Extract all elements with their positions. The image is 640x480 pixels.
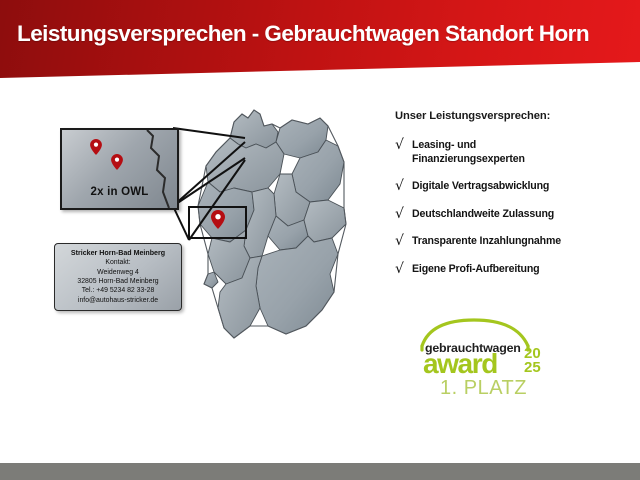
owl-callout-label: 2x in OWL — [62, 186, 177, 198]
header-banner: Leistungsversprechen - Gebrauchtwagen St… — [0, 0, 640, 78]
check-icon: √ — [395, 235, 412, 249]
slide-canvas: Leistungsversprechen - Gebrauchtwagen St… — [0, 0, 640, 480]
promise-label: Leasing- und Finanzierungsexperten — [412, 139, 525, 166]
check-icon: √ — [395, 263, 412, 277]
owl-pin-2-icon — [111, 154, 123, 170]
award-badge-svg: gebrauchtwagen award 20 25 1. PLATZ — [398, 316, 553, 398]
germany-map-svg — [168, 96, 383, 401]
owl-callout-box: 2x in OWL — [60, 128, 179, 210]
promise-item: √ Leasing- und Finanzierungsexperten — [395, 139, 630, 166]
award-line2: award — [423, 348, 497, 379]
footer-bar — [0, 463, 640, 480]
award-badge: gebrauchtwagen award 20 25 1. PLATZ — [398, 316, 553, 398]
address-box: Stricker Horn-Bad Meinberg Kontakt: Weid… — [54, 243, 182, 311]
promise-label: Transparente Inzahlungnahme — [412, 235, 561, 249]
address-line: Kontakt: — [105, 258, 130, 267]
germany-map — [168, 96, 383, 401]
page-title: Leistungsversprechen - Gebrauchtwagen St… — [17, 21, 589, 47]
promise-item: √ Deutschlandweite Zulassung — [395, 208, 630, 222]
owl-pin-1-icon — [90, 139, 102, 155]
address-line: Stricker Horn-Bad Meinberg — [71, 249, 165, 258]
award-year-bottom: 25 — [524, 359, 541, 376]
promises-heading: Unser Leistungsversprechen: — [395, 110, 630, 122]
promise-item: √ Digitale Vertragsabwicklung — [395, 180, 630, 194]
check-icon: √ — [395, 208, 412, 222]
promise-label: Digitale Vertragsabwicklung — [412, 180, 549, 194]
map-zoom-rectangle — [188, 206, 248, 240]
promise-item: √ Transparente Inzahlungnahme — [395, 235, 630, 249]
address-email: info@autohaus-stricker.de — [78, 296, 158, 305]
promise-label: Eigene Profi-Aufbereitung — [412, 263, 540, 277]
address-line: Tel.: +49 5234 82 33-28 — [82, 286, 155, 295]
check-icon: √ — [395, 139, 412, 153]
promise-label: Deutschlandweite Zulassung — [412, 208, 554, 222]
address-line: 32805 Horn-Bad Meinberg — [77, 277, 158, 286]
brand-logo-bar: Horn Nutzfahrzeuge Service ŠKODA Service — [0, 404, 640, 462]
check-icon: √ — [395, 180, 412, 194]
address-line: Weidenweg 4 — [97, 268, 139, 277]
promise-item: √ Eigene Profi-Aufbereitung — [395, 263, 630, 277]
promises-section: Unser Leistungsversprechen: √ Leasing- u… — [395, 110, 630, 290]
award-place: 1. PLATZ — [440, 377, 527, 398]
